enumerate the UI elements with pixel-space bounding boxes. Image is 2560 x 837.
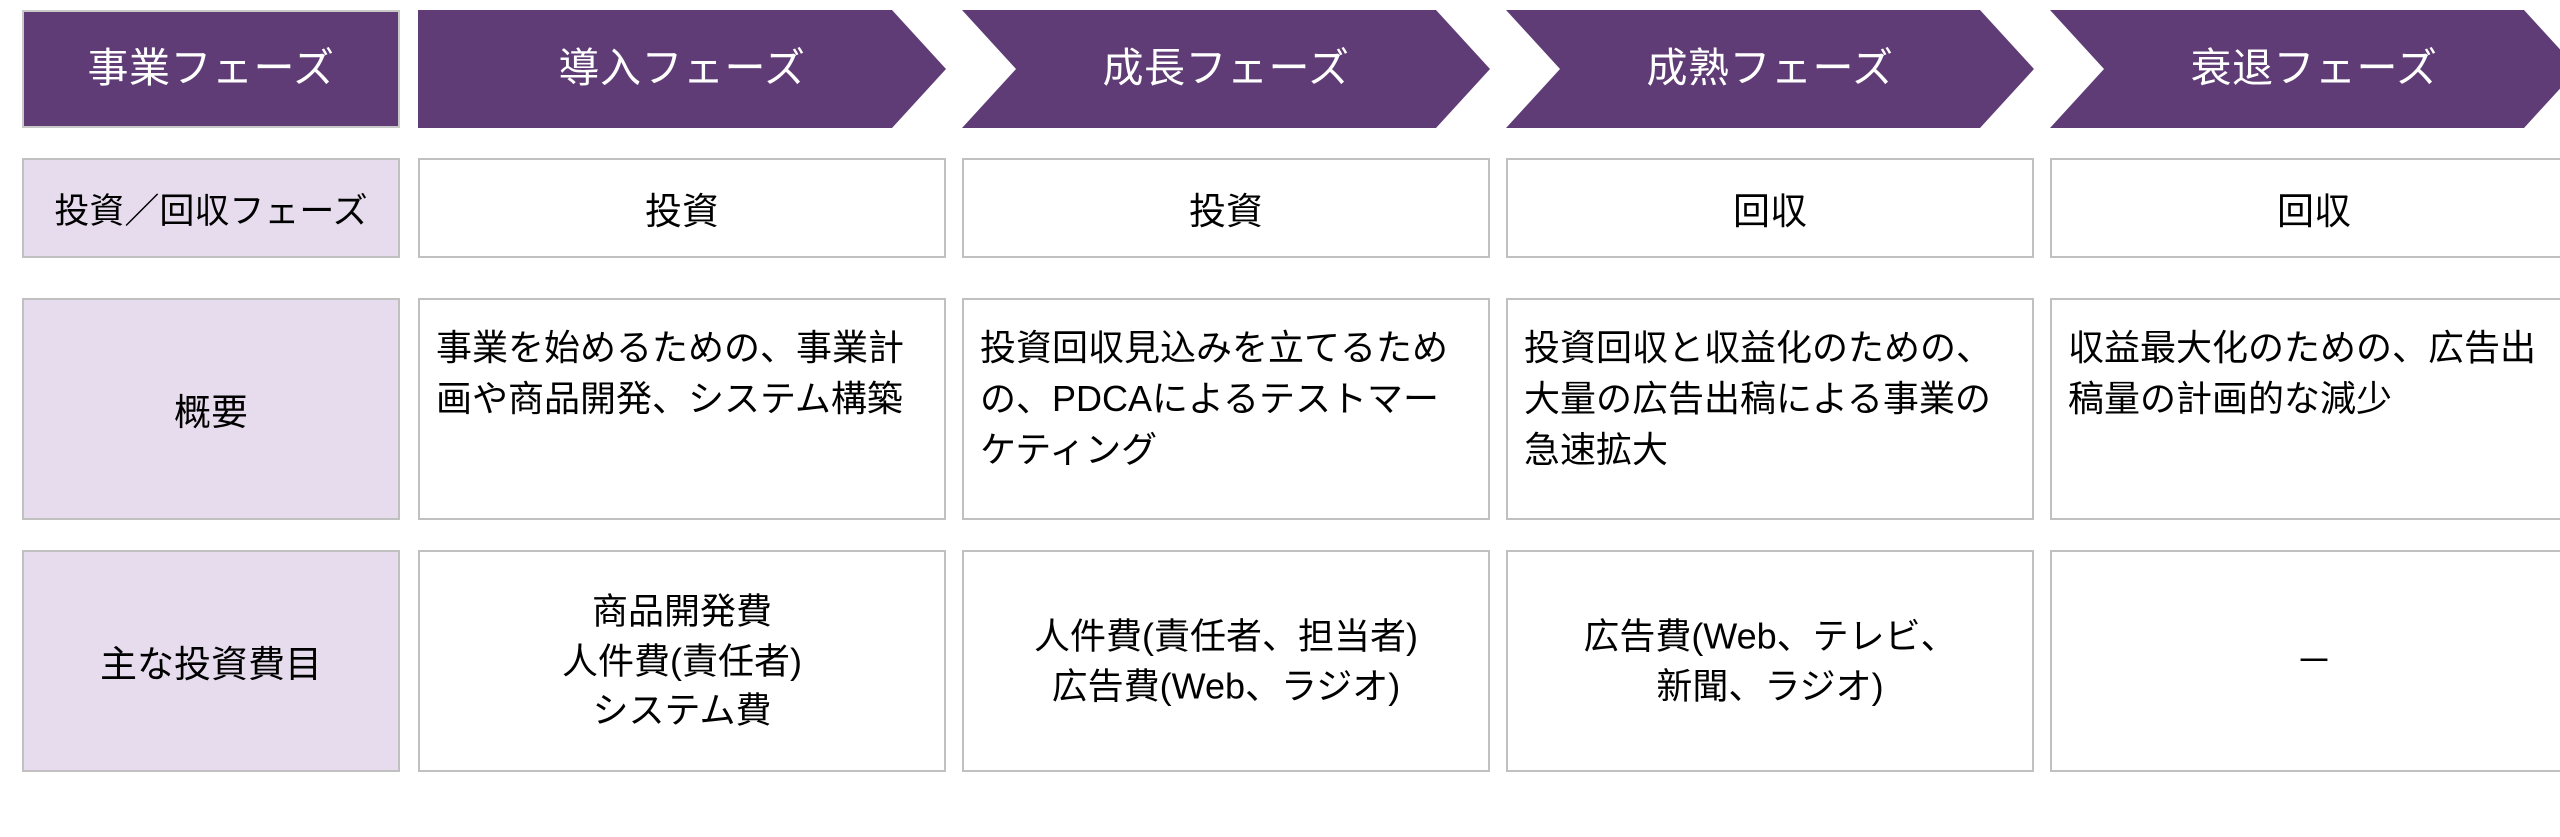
row-label-overview: 概要 (22, 298, 400, 520)
header-phase-3[interactable]: 成熟フェーズ (1506, 10, 2034, 128)
cell-r3-c3: 広告費(Web、テレビ、 新聞、ラジオ) (1506, 550, 2034, 772)
cell-r1-c3-text: 回収 (1733, 181, 1807, 235)
cell-r3-c3-lines: 広告費(Web、テレビ、 新聞、ラジオ) (1508, 611, 2032, 710)
header-phase-2-label: 成長フェーズ (1103, 44, 1350, 93)
cell-r3-c4-lines: － (2052, 635, 2560, 686)
cell-r2-c2-text: 投資回収見込みを立てるための、PDCAによるテストマーケティング (980, 327, 1448, 470)
cell-r3-c3-line-1: 広告費(Web、テレビ、 (1508, 611, 2032, 661)
cell-r3-c2: 人件費(責任者、担当者) 広告費(Web、ラジオ) (962, 550, 1490, 772)
cell-r1-c2: 投資 (962, 158, 1490, 258)
cell-r3-c2-lines: 人件費(責任者、担当者) 広告費(Web、ラジオ) (964, 611, 1488, 710)
row-label-investment-recovery: 投資／回収フェーズ (22, 158, 400, 258)
cell-r3-c1-line-2: 人件費(責任者) (420, 636, 944, 686)
header-phase-4-label: 衰退フェーズ (2191, 44, 2438, 93)
cell-r2-c3-text: 投資回収と収益化のための、大量の広告出稿による事業の急速拡大 (1524, 327, 1992, 470)
cell-r3-c1-lines: 商品開発費 人件費(責任者) システム費 (420, 586, 944, 735)
header-row-label: 事業フェーズ (22, 10, 400, 128)
cell-r3-c2-line-1: 人件費(責任者、担当者) (964, 611, 1488, 661)
row-label-main-investment-items: 主な投資費目 (22, 550, 400, 772)
cell-r3-c3-line-2: 新聞、ラジオ) (1508, 661, 2032, 711)
header-row-label-text: 事業フェーズ (88, 44, 335, 93)
header-phase-3-label: 成熟フェーズ (1647, 44, 1894, 93)
header-phase-4[interactable]: 衰退フェーズ (2050, 10, 2560, 128)
cell-r1-c2-text: 投資 (1189, 181, 1263, 235)
cell-r1-c4: 回収 (2050, 158, 2560, 258)
cell-r3-c4-line-1: － (2052, 635, 2560, 686)
cell-r2-c3: 投資回収と収益化のための、大量の広告出稿による事業の急速拡大 (1506, 298, 2034, 520)
cell-r1-c1: 投資 (418, 158, 946, 258)
row-label-main-investment-items-text: 主な投資費目 (100, 634, 322, 688)
cell-r1-c3: 回収 (1506, 158, 2034, 258)
cell-r2-c4: 収益最大化のための、広告出稿量の計画的な減少 (2050, 298, 2560, 520)
cell-r3-c2-line-2: 広告費(Web、ラジオ) (964, 661, 1488, 711)
cell-r3-c4: － (2050, 550, 2560, 772)
cell-r2-c4-text: 収益最大化のための、広告出稿量の計画的な減少 (2068, 327, 2536, 419)
header-phase-1-label: 導入フェーズ (559, 44, 806, 93)
cell-r3-c1: 商品開発費 人件費(責任者) システム費 (418, 550, 946, 772)
row-label-overview-text: 概要 (174, 382, 248, 436)
cell-r2-c1: 事業を始めるための、事業計画や商品開発、システム構築 (418, 298, 946, 520)
cell-r3-c1-line-1: 商品開発費 (420, 586, 944, 636)
cell-r1-c1-text: 投資 (645, 181, 719, 235)
row-label-investment-recovery-text: 投資／回収フェーズ (54, 183, 367, 234)
header-phase-1[interactable]: 導入フェーズ (418, 10, 946, 128)
cell-r1-c4-text: 回収 (2277, 181, 2351, 235)
cell-r3-c1-line-3: システム費 (420, 686, 944, 736)
phase-table-slide: 事業フェーズ 導入フェーズ 成長フェーズ 成熟フェーズ 衰退フェーズ 投資／回収… (0, 0, 2560, 837)
cell-r2-c1-text: 事業を始めるための、事業計画や商品開発、システム構築 (436, 327, 904, 419)
cell-r2-c2: 投資回収見込みを立てるための、PDCAによるテストマーケティング (962, 298, 1490, 520)
header-phase-2[interactable]: 成長フェーズ (962, 10, 1490, 128)
